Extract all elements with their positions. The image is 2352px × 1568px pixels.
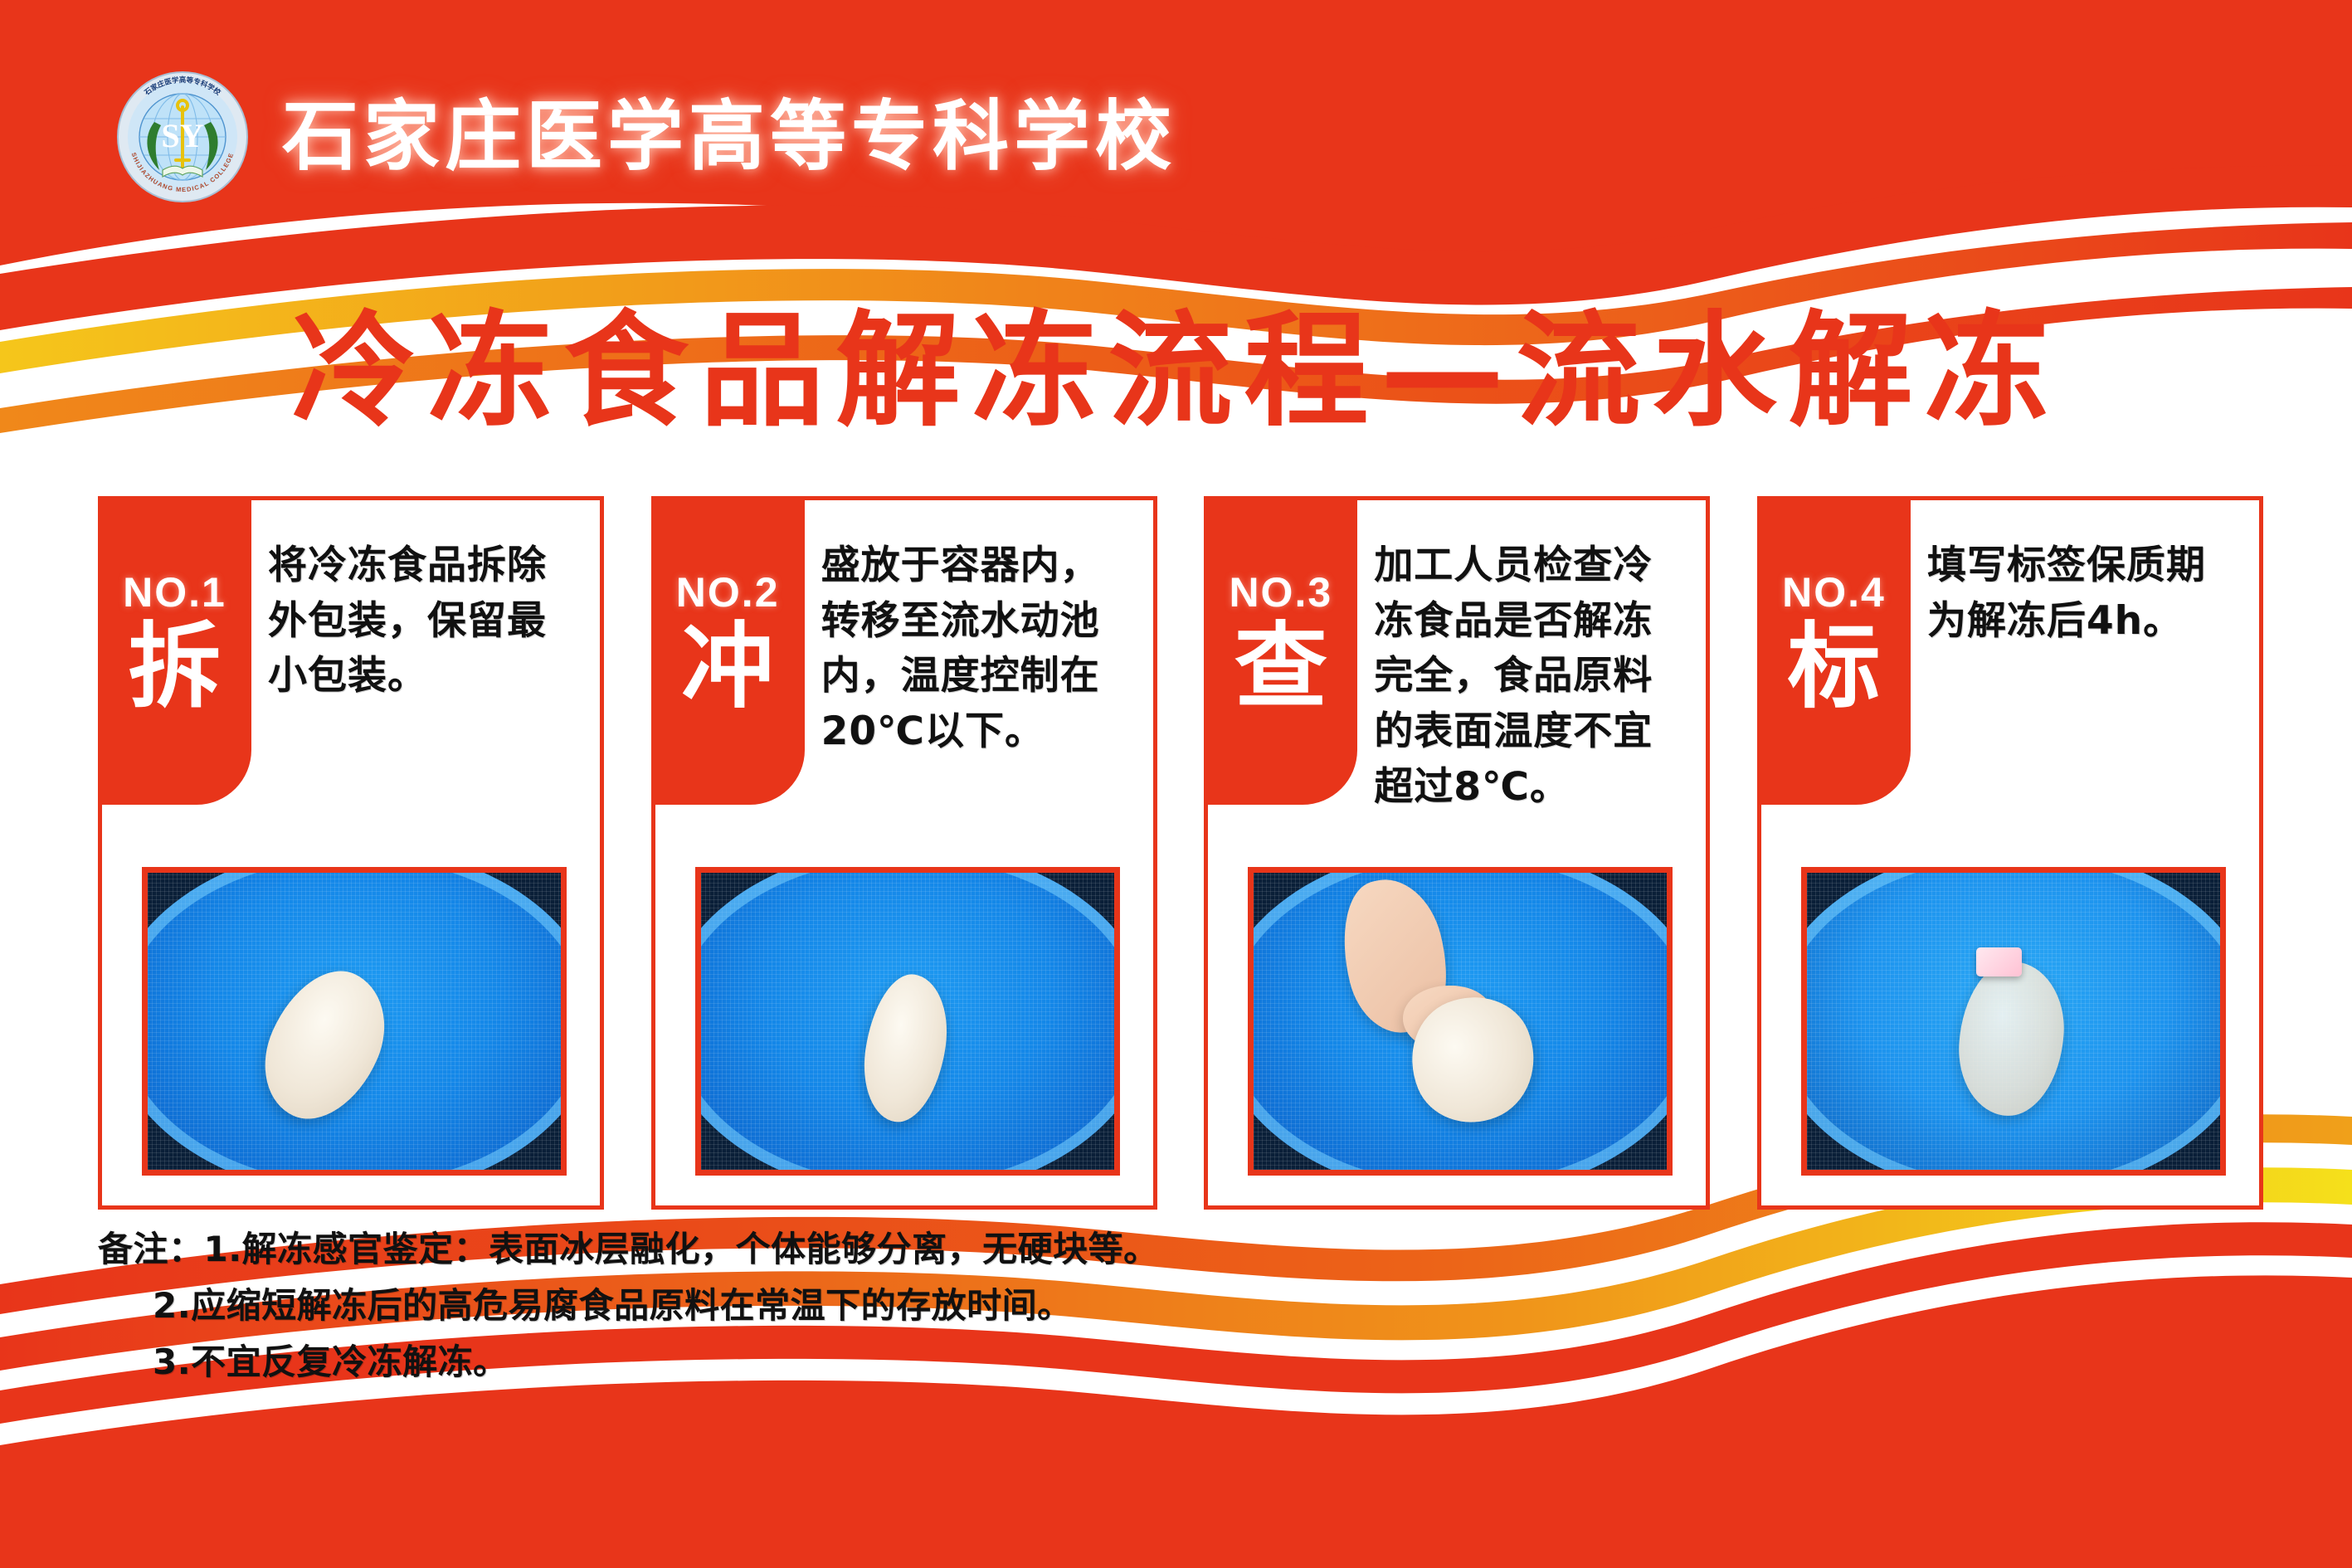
step-photo-2 — [695, 867, 1120, 1176]
step-text-2: 盛放于容器内，转移至流水动池内，温度控制在20℃以下。 — [821, 538, 1135, 760]
step-number-3: NO.3 — [1229, 568, 1332, 616]
steps-container: NO.1 拆 将冷冻食品拆除外包装，保留最小包装。 NO.2 冲 盛放于容器内， — [98, 496, 2263, 1210]
step-card-1: NO.1 拆 将冷冻食品拆除外包装，保留最小包装。 — [98, 496, 604, 1210]
step-char-2: 冲 — [681, 620, 774, 714]
page-title: 冷冻食品解冻流程—流水解冻 — [0, 307, 2352, 438]
step-tab-3: NO.3 查 — [1204, 496, 1357, 805]
shijiazhuang-medical-college-logo-icon: SY 石家庄医学高等专科学校 SHIJIAZHUANG MEDICAL COLL… — [116, 71, 249, 203]
step-photo-1 — [142, 867, 567, 1176]
step-tab-1: NO.1 拆 — [98, 496, 251, 805]
step-tab-2: NO.2 冲 — [651, 496, 805, 805]
step-card-3: NO.3 查 加工人员检查冷冻食品是否解冻完全，食品原料的表面温度不宜超过8℃。 — [1204, 496, 1710, 1210]
step-char-1: 拆 — [129, 620, 222, 714]
poster-header: SY 石家庄医学高等专科学校 SHIJIAZHUANG MEDICAL COLL… — [0, 0, 2352, 274]
step-char-3: 查 — [1234, 620, 1327, 714]
step-char-4: 标 — [1787, 620, 1880, 714]
step-text-1: 将冷冻食品拆除外包装，保留最小包装。 — [268, 538, 582, 704]
step-number-1: NO.1 — [123, 568, 226, 616]
step-card-4: NO.4 标 填写标签保质期为解冻后4h。 — [1757, 496, 2263, 1210]
step-card-2: NO.2 冲 盛放于容器内，转移至流水动池内，温度控制在20℃以下。 — [651, 496, 1157, 1210]
step-photo-4 — [1801, 867, 2226, 1176]
step-text-4: 填写标签保质期为解冻后4h。 — [1927, 538, 2241, 649]
note-line-1: 备注：1.解冻感官鉴定：表面冰层融化，个体能够分离，无硬块等。 — [98, 1221, 1159, 1278]
step-photo-3 — [1248, 867, 1673, 1176]
label-tag-icon — [1976, 947, 2022, 977]
step-tab-4: NO.4 标 — [1757, 496, 1911, 805]
note-line-2: 2.应缩短解冻后的高危易腐食品原料在常温下的存放时间。 — [98, 1278, 1159, 1334]
step-number-2: NO.2 — [676, 568, 780, 616]
note-line-3: 3.不宜反复冷冻解冻。 — [98, 1334, 1159, 1390]
poster-root: SY 石家庄医学高等专科学校 SHIJIAZHUANG MEDICAL COLL… — [0, 0, 2352, 1568]
svg-text:SY: SY — [161, 117, 203, 154]
school-name: 石家庄医学高等专科学校 — [282, 99, 1176, 175]
step-text-3: 加工人员检查冷冻食品是否解冻完全，食品原料的表面温度不宜超过8℃。 — [1374, 538, 1687, 816]
footer-notes: 备注：1.解冻感官鉴定：表面冰层融化，个体能够分离，无硬块等。 2.应缩短解冻后… — [98, 1221, 1159, 1390]
step-number-4: NO.4 — [1782, 568, 1886, 616]
